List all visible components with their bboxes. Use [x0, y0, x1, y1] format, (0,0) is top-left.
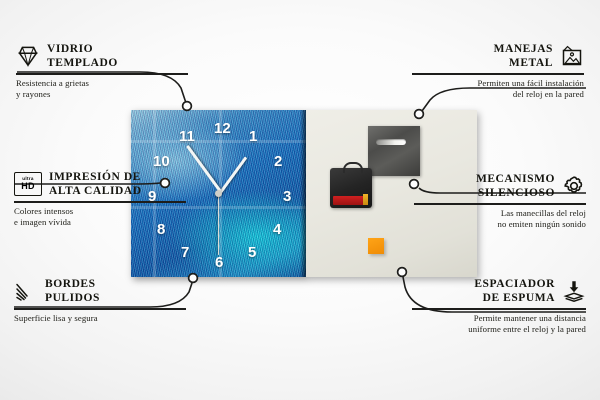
- clock-second-hand: [217, 193, 218, 255]
- feature-desc: Resistencia a grietas: [16, 75, 188, 90]
- feature-desc-2: y rayones: [16, 89, 188, 101]
- feature-title-2: TEMPLADO: [47, 56, 118, 70]
- clock-numeral-10: 10: [153, 154, 170, 169]
- clock-numeral-1: 1: [249, 129, 257, 144]
- feature-desc: Superficie lisa y segura: [14, 310, 186, 325]
- badge-hd-label: HD: [21, 182, 34, 191]
- gear-icon: [562, 174, 586, 198]
- feature-vidrio-templado: VIDRIO TEMPLADO Resistencia a grietas y …: [16, 42, 188, 101]
- feature-title: MANEJAS: [494, 42, 553, 56]
- clock-numeral-5: 5: [248, 245, 256, 260]
- feature-impresion-alta-calidad: ultra HD IMPRESIÓN DE ALTA CALIDAD Color…: [14, 170, 186, 229]
- clock-hour-hand: [219, 156, 248, 194]
- feature-title: ESPACIADOR: [474, 277, 555, 291]
- diamond-icon: [16, 44, 40, 68]
- metal-hanger-icon: [368, 126, 420, 176]
- clock-numeral-11: 11: [179, 129, 195, 144]
- feature-title-2: SILENCIOSO: [476, 186, 555, 200]
- feature-desc-2: del reloj en la pared: [412, 89, 584, 101]
- feature-desc: Permiten una fácil instalación: [412, 75, 584, 90]
- feature-title-2: ALTA CALIDAD: [49, 184, 142, 198]
- feature-desc: Las manecillas del reloj: [414, 205, 586, 220]
- feature-title: BORDES: [45, 277, 100, 291]
- foam-spacer-icon: [562, 279, 586, 303]
- clock-numeral-3: 3: [283, 189, 291, 204]
- clock-numeral-7: 7: [181, 245, 189, 260]
- infographic-canvas: 12 1 2 3 4 5 6 7 8 9 10 11: [0, 0, 600, 400]
- feature-title: MECANISMO: [476, 172, 555, 186]
- feature-title: IMPRESIÓN DE: [49, 170, 142, 184]
- feature-manejas-metal: MANEJAS METAL Permiten una fácil instala…: [412, 42, 584, 101]
- clock-numeral-12: 12: [214, 121, 231, 136]
- feature-title-2: PULIDOS: [45, 291, 100, 305]
- clock-minute-hand: [186, 145, 222, 192]
- feature-desc: Permite mantener una distancia: [412, 310, 586, 325]
- feature-espaciador-espuma: ESPACIADOR DE ESPUMA Permite mantener un…: [412, 277, 586, 336]
- polished-edges-icon: [14, 279, 38, 303]
- feature-title-2: METAL: [494, 56, 553, 70]
- clock-numeral-6: 6: [215, 255, 223, 270]
- clock-numeral-2: 2: [274, 154, 282, 169]
- feature-desc: Colores intensos: [14, 203, 186, 218]
- feature-title: VIDRIO: [47, 42, 118, 56]
- clock-numeral-4: 4: [273, 222, 281, 237]
- feature-mecanismo-silencioso: MECANISMO SILENCIOSO Las manecillas del …: [414, 172, 586, 231]
- ultra-hd-icon: ultra HD: [14, 172, 42, 196]
- quartz-mechanism: [330, 168, 372, 208]
- foam-spacer-pad: [368, 238, 384, 254]
- feature-title-2: DE ESPUMA: [474, 291, 555, 305]
- feature-desc-2: no emiten ningún sonido: [414, 219, 586, 231]
- feature-desc-2: e imagen vívida: [14, 217, 186, 229]
- feature-bordes-pulidos: BORDES PULIDOS Superficie lisa y segura: [14, 277, 186, 324]
- clock-hand-cap: [215, 190, 222, 197]
- feature-desc-2: uniforme entre el reloj y la pared: [412, 324, 586, 336]
- picture-hanger-icon: [560, 44, 584, 68]
